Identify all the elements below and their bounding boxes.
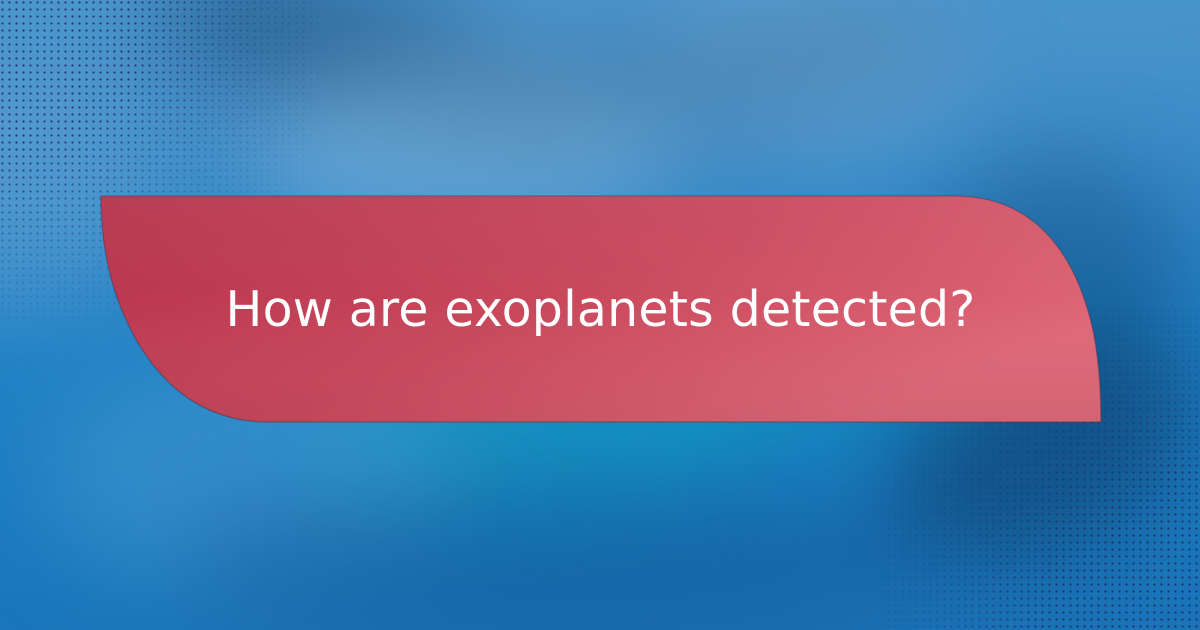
title-banner bbox=[0, 0, 1200, 630]
banner-sheen bbox=[101, 196, 1101, 422]
social-card: How are exoplanets detected? bbox=[0, 0, 1200, 630]
